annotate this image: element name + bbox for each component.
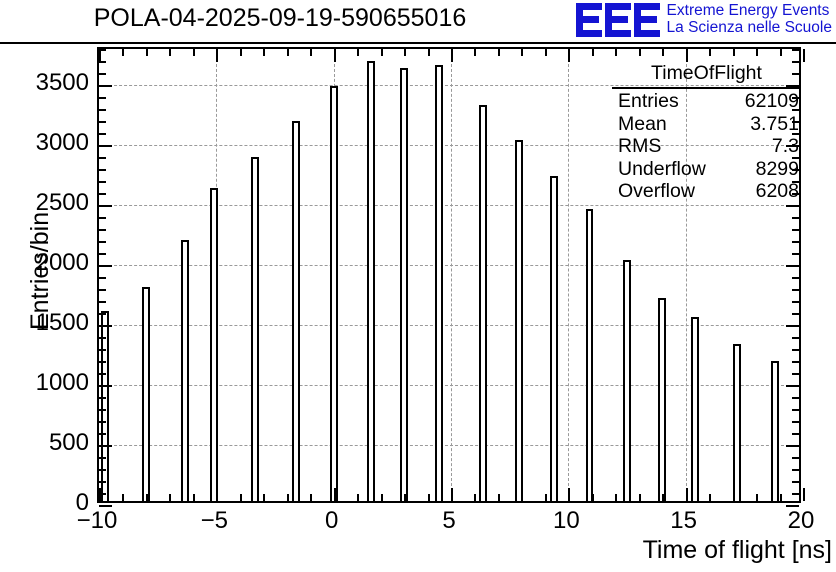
x-axis-tick xyxy=(756,494,758,501)
y-axis-tick-label: 1000 xyxy=(3,371,89,395)
x-axis-tick xyxy=(686,488,688,501)
y-axis-tick xyxy=(99,361,106,363)
x-axis-tick-top xyxy=(756,49,758,56)
x-axis-tick-top xyxy=(521,49,523,56)
x-axis-tick-label: 10 xyxy=(531,509,601,533)
y-axis-tick xyxy=(99,289,106,291)
stats-divider xyxy=(612,87,801,89)
y-axis-tick-right xyxy=(792,289,799,291)
x-axis-tick xyxy=(122,494,124,501)
x-axis-tick xyxy=(451,488,453,501)
y-axis-tick xyxy=(99,265,112,267)
y-axis-tick xyxy=(99,385,112,387)
stats-row: Entries62109 xyxy=(612,91,801,114)
y-axis-tick xyxy=(99,277,106,279)
y-axis-tick xyxy=(99,301,106,303)
x-axis-tick-top xyxy=(733,49,735,56)
x-axis-tick-top xyxy=(428,49,430,56)
y-axis-tick-right xyxy=(792,337,799,339)
y-axis-tick xyxy=(99,397,106,399)
histogram-bar xyxy=(733,344,741,501)
stats-row-key: RMS xyxy=(618,137,661,157)
x-axis-tick-top xyxy=(498,49,500,56)
y-axis-tick xyxy=(99,445,112,447)
x-axis-tick-top xyxy=(263,49,265,56)
x-axis-tick xyxy=(615,494,617,501)
histogram-bar xyxy=(330,86,338,501)
x-axis-tick xyxy=(780,494,782,501)
stats-row-value: 62109 xyxy=(745,92,799,112)
y-axis-tick-right xyxy=(792,481,799,483)
y-axis-tick xyxy=(99,169,106,171)
x-axis-tick xyxy=(99,488,101,501)
x-axis-tick-top xyxy=(709,49,711,56)
stats-row: Mean3.751 xyxy=(612,113,801,136)
x-axis-tick xyxy=(263,494,265,501)
y-axis-tick-right xyxy=(792,229,799,231)
y-axis-title: Entries/bin xyxy=(26,212,55,330)
x-axis-tick-top xyxy=(334,49,336,62)
x-axis-tick xyxy=(568,488,570,501)
x-axis-tick-top xyxy=(615,49,617,56)
y-axis-tick xyxy=(99,421,106,423)
y-axis-tick-label: 500 xyxy=(3,431,89,455)
y-axis-tick-right xyxy=(786,265,799,267)
x-axis-tick xyxy=(709,494,711,501)
y-axis-tick-right xyxy=(786,205,799,207)
x-axis-tick xyxy=(334,488,336,501)
y-axis-tick-right xyxy=(792,313,799,315)
eee-logo: Extreme Energy Events La Scienza nelle S… xyxy=(576,2,832,42)
x-axis-tick xyxy=(146,494,148,501)
histogram-bar xyxy=(658,298,666,501)
x-axis-tick xyxy=(733,494,735,501)
y-axis-tick-right xyxy=(792,217,799,219)
page-title: POLA-04-2025-09-19-590655016 xyxy=(0,4,560,33)
stats-title: TimeOfFlight xyxy=(612,63,801,87)
x-axis-tick xyxy=(662,494,664,501)
logo-text: Extreme Energy Events La Scienza nelle S… xyxy=(667,2,832,37)
y-axis-tick xyxy=(99,97,106,99)
x-axis-tick xyxy=(310,494,312,501)
x-axis-tick-top xyxy=(287,49,289,56)
y-axis-tick-right xyxy=(792,349,799,351)
x-axis-tick-label: 0 xyxy=(297,509,367,533)
x-axis-tick xyxy=(287,494,289,501)
stats-rows: Entries62109Mean3.751RMS7.3Underflow8299… xyxy=(612,91,801,204)
histogram-bar xyxy=(181,240,189,501)
x-axis-tick-label: 15 xyxy=(649,509,719,533)
y-axis-tick xyxy=(99,241,106,243)
stats-row: Underflow8299 xyxy=(612,158,801,181)
logo-letter-e-icon xyxy=(605,3,631,37)
x-axis-tick xyxy=(592,494,594,501)
y-axis-tick-right xyxy=(786,325,799,327)
y-axis-tick xyxy=(99,253,106,255)
y-axis-tick-right xyxy=(792,493,799,495)
y-axis-tick xyxy=(99,157,106,159)
logo-line-1: Extreme Energy Events xyxy=(667,2,832,19)
x-axis-tick xyxy=(381,494,383,501)
histogram-bar xyxy=(210,188,218,501)
y-axis-tick-right xyxy=(786,445,799,447)
histogram-bar xyxy=(479,105,487,501)
histogram-bar xyxy=(550,176,558,501)
y-axis-tick xyxy=(99,109,106,111)
stats-row: RMS7.3 xyxy=(612,136,801,159)
x-axis-tick-top xyxy=(803,49,805,62)
x-axis-tick xyxy=(216,488,218,501)
x-axis-tick xyxy=(404,494,406,501)
x-axis-tick-top xyxy=(639,49,641,56)
x-axis-tick xyxy=(428,494,430,501)
y-axis-tick-right xyxy=(792,241,799,243)
x-axis-tick-top xyxy=(451,49,453,62)
histogram-bar xyxy=(515,140,523,501)
y-axis-tick xyxy=(99,373,106,375)
y-axis-tick-right xyxy=(792,469,799,471)
y-axis-tick xyxy=(99,85,112,87)
stats-row-value: 7.3 xyxy=(772,137,799,157)
y-axis-tick-right xyxy=(792,253,799,255)
y-axis-tick-right xyxy=(792,457,799,459)
x-axis-tick xyxy=(193,494,195,501)
stats-row: Overflow6208 xyxy=(612,181,801,204)
y-axis-tick xyxy=(99,205,112,207)
x-axis-tick xyxy=(240,494,242,501)
x-axis-tick-label: 20 xyxy=(766,509,836,533)
x-axis-tick xyxy=(498,494,500,501)
x-axis-tick xyxy=(545,494,547,501)
histogram-bar xyxy=(586,209,594,501)
y-axis-tick xyxy=(99,181,106,183)
x-axis-tick-top xyxy=(216,49,218,62)
histogram-bar xyxy=(101,311,109,501)
y-axis-tick-right xyxy=(792,361,799,363)
stats-row-value: 6208 xyxy=(756,182,799,202)
stats-row-key: Entries xyxy=(618,92,679,112)
histogram-bar xyxy=(400,68,408,501)
y-axis-tick xyxy=(99,133,106,135)
x-axis-tick-top xyxy=(310,49,312,56)
histogram-bar xyxy=(292,121,300,501)
logo-letter-e-icon xyxy=(576,3,602,37)
x-axis-tick xyxy=(803,488,805,501)
y-axis-tick-right xyxy=(792,397,799,399)
stats-row-key: Mean xyxy=(618,115,667,135)
y-axis-tick xyxy=(99,229,106,231)
y-axis-tick-right xyxy=(786,385,799,387)
logo-letter-e-icon xyxy=(634,3,660,37)
y-axis-tick-right xyxy=(792,277,799,279)
histogram-bar xyxy=(623,260,631,501)
x-axis-tick xyxy=(521,494,523,501)
x-axis-tick-top xyxy=(686,49,688,62)
y-axis-tick xyxy=(99,73,106,75)
y-axis-tick-label: 3500 xyxy=(3,71,89,95)
x-axis-tick-top xyxy=(545,49,547,56)
x-axis-tick-top xyxy=(240,49,242,56)
y-axis-tick xyxy=(99,469,106,471)
x-axis-tick-top xyxy=(99,49,101,62)
x-axis-tick-top xyxy=(568,49,570,62)
x-axis-tick-top xyxy=(122,49,124,56)
y-axis-tick xyxy=(99,217,106,219)
y-axis-tick xyxy=(99,121,106,123)
logo-line-2: La Scienza nelle Scuole xyxy=(667,19,832,36)
x-axis-tick-label: −10 xyxy=(62,509,132,533)
y-axis-tick xyxy=(99,349,106,351)
y-axis-tick xyxy=(99,457,106,459)
y-axis-tick-right xyxy=(792,409,799,411)
histogram-bar xyxy=(142,287,150,501)
x-axis-tick-top xyxy=(357,49,359,56)
x-axis-tick-label: 5 xyxy=(414,509,484,533)
x-axis-tick-top xyxy=(146,49,148,56)
x-axis-tick xyxy=(169,494,171,501)
y-axis-tick xyxy=(99,409,106,411)
x-axis-tick-top xyxy=(780,49,782,56)
stats-row-key: Overflow xyxy=(618,182,695,202)
y-axis-tick xyxy=(99,433,106,435)
y-axis-tick xyxy=(99,337,106,339)
stats-box: TimeOfFlight Entries62109Mean3.751RMS7.3… xyxy=(612,63,801,203)
stats-row-key: Underflow xyxy=(618,160,706,180)
y-axis-tick-right xyxy=(792,49,799,51)
x-axis-tick-top xyxy=(404,49,406,56)
x-axis-tick-top xyxy=(193,49,195,56)
y-axis-tick-label: 3000 xyxy=(3,131,89,155)
histogram-bar xyxy=(367,61,375,501)
histogram-bar xyxy=(251,157,259,501)
x-axis-title: Time of flight [ns] xyxy=(643,536,832,565)
stats-row-value: 3.751 xyxy=(750,115,799,135)
y-axis-tick xyxy=(99,481,106,483)
histogram-bar xyxy=(435,65,443,501)
histogram-bar xyxy=(771,361,779,501)
header-divider xyxy=(0,42,836,44)
x-axis-tick-top xyxy=(662,49,664,56)
y-axis-tick xyxy=(99,193,106,195)
eee-logo-mark-icon xyxy=(576,3,660,37)
x-axis-tick-top xyxy=(381,49,383,56)
x-axis-tick-top xyxy=(474,49,476,56)
y-axis-tick xyxy=(99,313,106,315)
histogram-bar xyxy=(691,317,699,501)
x-axis-tick xyxy=(474,494,476,501)
y-axis-tick-right xyxy=(792,373,799,375)
x-axis-tick-top xyxy=(592,49,594,56)
x-axis-tick-top xyxy=(169,49,171,56)
y-axis-tick-right xyxy=(792,433,799,435)
x-axis-tick xyxy=(357,494,359,501)
y-axis-tick xyxy=(99,145,112,147)
stats-row-value: 8299 xyxy=(756,160,799,180)
y-axis-tick-right xyxy=(792,301,799,303)
y-axis-tick-right xyxy=(792,421,799,423)
x-axis-tick-label: −5 xyxy=(179,509,249,533)
x-axis-tick xyxy=(639,494,641,501)
y-axis-tick xyxy=(99,325,112,327)
